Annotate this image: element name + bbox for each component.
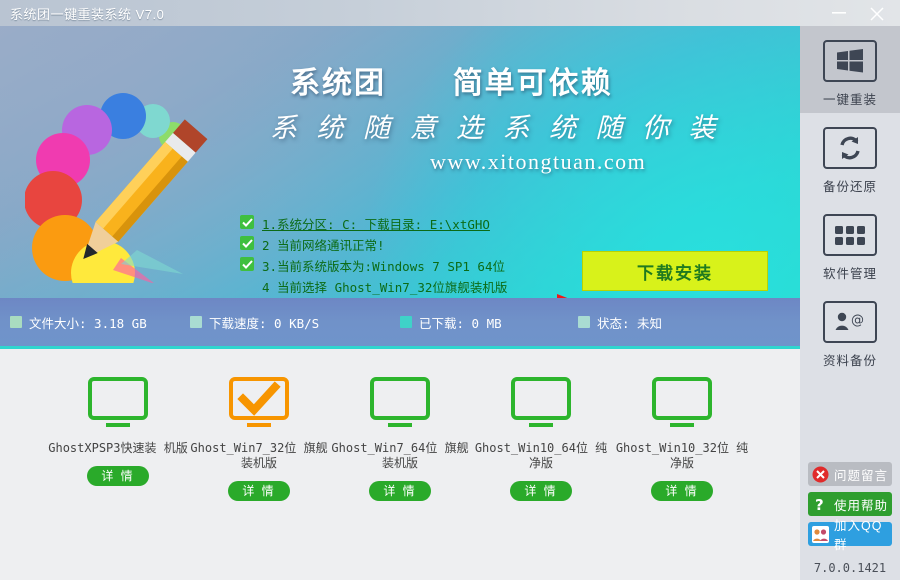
close-icon [869,7,885,21]
window-title: 系统团一键重装系统 V7.0 [10,4,164,23]
sidebar-label: 一键重装 [823,89,877,108]
pencil-palette-logo [25,88,215,283]
status-checklist: 1.系统分区: C: 下载目录: E:\xtGHO 2 当前网络通讯正常! 3.… [240,214,570,298]
os-card[interactable]: Ghost_Win10_32位 纯净版 详 情 [611,373,753,501]
download-install-button[interactable]: 下载安装 [582,251,768,291]
title-bar: 系统团一键重装系统 V7.0 [0,0,900,26]
os-card-label: Ghost_Win7_64位 旗舰装机版 [329,441,471,471]
banner-headline: 系统团 简单可依赖 [290,58,760,102]
monitor-icon [611,373,753,435]
monitor-check-icon [188,373,330,435]
checklist-row: 3.当前系统版本为:Windows 7 SP1 64位 [240,256,570,275]
right-sidebar: 一键重装 备份还原 [800,26,900,580]
status-state: 状态: 未知 [578,313,662,331]
red-x-circle-icon [812,466,829,483]
sidebar-label: 资料备份 [823,350,877,369]
os-card[interactable]: Ghost_Win7_64位 旗舰装机版 详 情 [329,373,471,501]
app-window: 系统团一键重装系统 V7.0 [0,0,900,580]
minimize-icon [831,7,847,19]
contact-card-icon: @ [823,301,877,343]
svg-text:?: ? [815,496,824,513]
qq-group-icon [812,526,829,543]
close-button[interactable] [858,0,896,26]
os-card-detail-button[interactable]: 详 情 [87,466,149,486]
banner-subline: 系 统 随 意 选 系 统 随 你 装 [270,106,760,145]
hero-banner: 系统团 简单可依赖 系 统 随 意 选 系 统 随 你 装 www.xitong… [0,26,800,298]
status-download-speed: 下载速度: 0 KB/S [190,313,319,331]
check-icon [240,236,254,250]
checklist-label-1[interactable]: 1.系统分区: C: 下载目录: E:\xtGHO [262,214,490,233]
os-card-label: Ghost_Win10_32位 纯净版 [611,441,753,471]
feedback-button[interactable]: 问题留言 [808,462,892,486]
os-card-detail-button[interactable]: 详 情 [369,481,431,501]
monitor-icon [470,373,612,435]
check-icon [240,215,254,229]
sidebar-label: 备份还原 [823,176,877,195]
status-square-icon [400,316,412,328]
sidebar-item-data-backup[interactable]: @ 资料备份 [800,287,900,374]
os-card-detail-button[interactable]: 详 情 [510,481,572,501]
os-card-label: GhostXPSP3快速装 机版 [47,441,189,456]
os-card[interactable]: Ghost_Win10_64位 纯净版 详 情 [470,373,612,501]
status-file-size: 文件大小: 3.18 GB [10,313,147,331]
join-qq-group-button[interactable]: 加入QQ群 [808,522,892,546]
checklist-row: 1.系统分区: C: 下载目录: E:\xtGHO [240,214,570,233]
help-button[interactable]: ? 使用帮助 [808,492,892,516]
status-downloaded: 已下载: 0 MB [400,313,502,331]
sidebar-item-backup-restore[interactable]: 备份还原 [800,113,900,200]
sidebar-item-software-manager[interactable]: 软件管理 [800,200,900,287]
monitor-icon [329,373,471,435]
check-icon [240,257,254,271]
question-mark-icon: ? [812,496,829,513]
status-square-icon [10,316,22,328]
checklist-label-2: 2 当前网络通讯正常! [262,235,385,254]
os-card[interactable]: GhostXPSP3快速装 机版 详 情 [47,373,189,486]
status-square-icon [190,316,202,328]
windows-logo-icon [823,40,877,82]
checklist-label-3: 3.当前系统版本为:Windows 7 SP1 64位 [262,256,505,275]
headline-right: 简单可依赖 [453,67,613,100]
version-label: 7.0.0.1421 [800,561,900,575]
feedback-label: 问题留言 [834,465,888,484]
help-label: 使用帮助 [834,495,888,514]
os-card-grid: GhostXPSP3快速装 机版 详 情 Ghost_Win7_32位 旗舰装机… [0,349,800,580]
sidebar-item-reinstall[interactable]: 一键重装 [800,26,900,113]
grid-dots-icon [823,214,877,256]
monitor-icon [47,373,189,435]
refresh-arrows-icon [823,127,877,169]
checklist-label-4: 4 当前选择 Ghost_Win7_32位旗舰装机版 [262,277,507,296]
os-card-label: Ghost_Win10_64位 纯净版 [470,441,612,471]
svg-text:@: @ [851,313,864,328]
sidebar-label: 软件管理 [823,263,877,282]
minimize-button[interactable] [820,0,858,26]
os-card-selected[interactable]: Ghost_Win7_32位 旗舰装机版 详 情 [188,373,330,501]
headline-left: 系统团 [290,67,386,100]
checklist-row: 2 当前网络通讯正常! [240,235,570,254]
banner-url: www.xitongtuan.com [430,149,646,175]
status-square-icon [578,316,590,328]
os-card-detail-button[interactable]: 详 情 [228,481,290,501]
os-card-detail-button[interactable]: 详 情 [651,481,713,501]
download-status-bar: 文件大小: 3.18 GB 下载速度: 0 KB/S 已下载: 0 MB 状态:… [0,298,800,349]
qq-group-label: 加入QQ群 [834,515,892,553]
os-card-label: Ghost_Win7_32位 旗舰装机版 [188,441,330,471]
